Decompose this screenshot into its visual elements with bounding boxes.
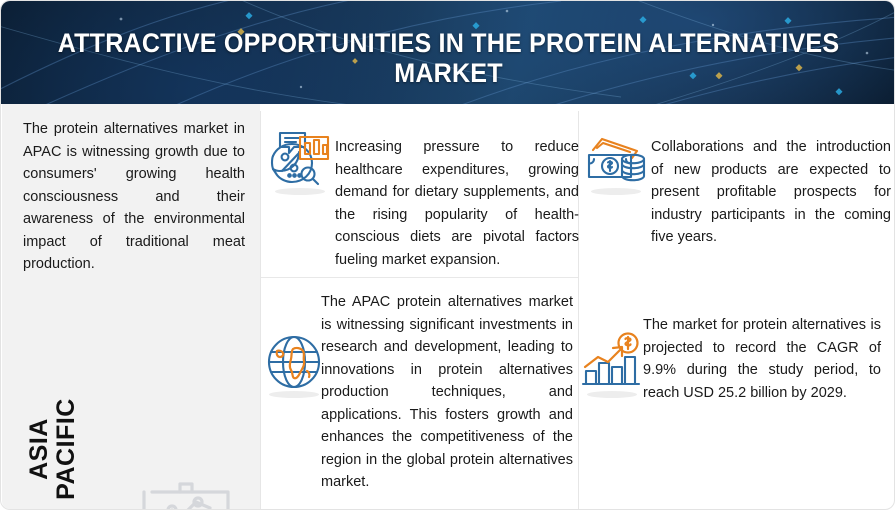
icon-shadow xyxy=(591,188,641,195)
divider-vertical-left xyxy=(260,111,261,510)
left-summary-panel: The protein alternatives market in APAC … xyxy=(2,104,260,510)
healthcare-cost-analytics-icon xyxy=(269,128,331,190)
presentation-board-chart-magnifier-icon xyxy=(122,466,250,510)
money-cash-coins-icon xyxy=(585,128,647,190)
growth-bar-chart-dollar-icon xyxy=(581,331,643,393)
infographic-container: ATTRACTIVE OPPORTUNITIES IN THE PROTEIN … xyxy=(0,0,895,510)
page-title: ATTRACTIVE OPPORTUNITIES IN THE PROTEIN … xyxy=(32,28,864,88)
insight-card-text: Collaborations and the introduction of n… xyxy=(651,136,891,249)
insight-card-text: Increasing pressure to reduce healthcare… xyxy=(335,136,579,271)
icon-shadow xyxy=(587,391,637,398)
globe-icon xyxy=(263,331,325,393)
divider-horizontal-left-column xyxy=(261,277,578,278)
icon-shadow xyxy=(269,391,319,398)
insight-card-text: The APAC protein alternatives market is … xyxy=(321,291,573,494)
region-label: ASIA PACIFIC xyxy=(26,379,80,510)
region-summary-text: The protein alternatives market in APAC … xyxy=(23,118,245,276)
insight-card-text: The market for protein alternatives is p… xyxy=(643,314,881,404)
icon-shadow xyxy=(275,188,325,195)
header-banner: ATTRACTIVE OPPORTUNITIES IN THE PROTEIN … xyxy=(1,1,895,104)
